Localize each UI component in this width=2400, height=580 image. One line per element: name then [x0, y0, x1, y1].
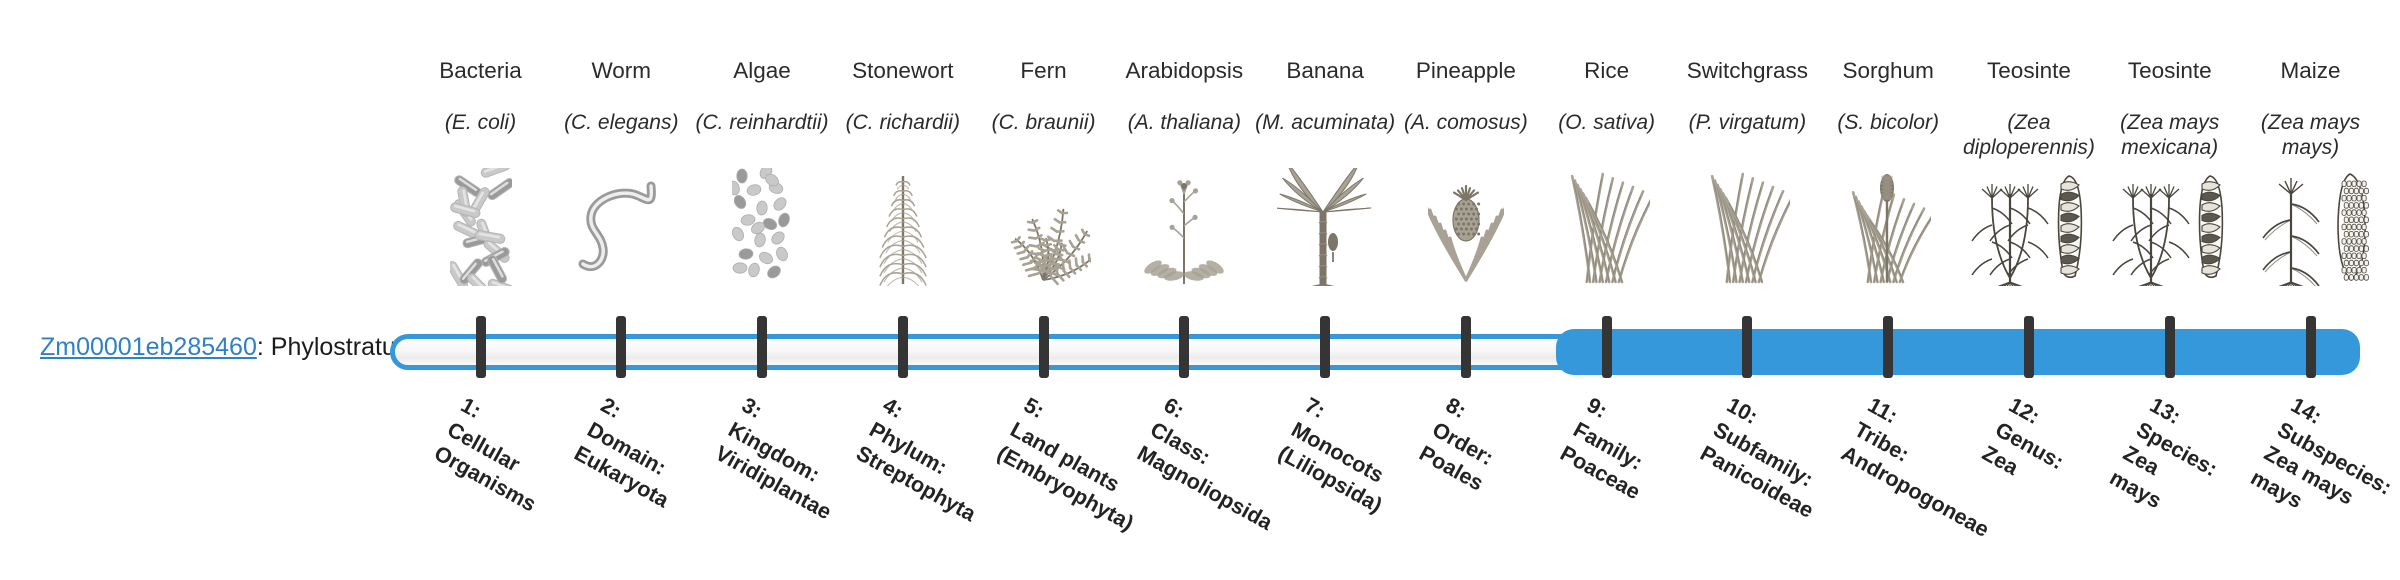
phylostratum-tick [1179, 316, 1189, 378]
species-common-name: Pineapple [1395, 58, 1536, 85]
species-common-name: Sorghum [1818, 58, 1959, 85]
species-latin-name: (Zea mays mexicana) [2099, 110, 2240, 160]
species-latin-name: (C. braunii) [973, 110, 1114, 135]
switchgrass-icon [1677, 168, 1818, 286]
species-common-name: Arabidopsis [1114, 58, 1255, 85]
stonewort-icon [832, 168, 973, 286]
species-latin-name: (C. richardii) [832, 110, 973, 135]
species-latin-name: (C. elegans) [551, 110, 692, 135]
phylostratum-tick [1742, 316, 1752, 378]
species-common-name: Banana [1255, 58, 1396, 85]
phylostratum-column-12[interactable]: Teosinte(Zea diploperennis)12: Genus: Ze… [1958, 0, 2099, 580]
species-latin-name: (E. coli) [410, 110, 551, 135]
banana-palm-icon [1255, 168, 1396, 286]
species-common-name: Stonewort [832, 58, 973, 85]
phylostratum-column-8[interactable]: Pineapple(A. comosus)8: Order: Poales [1395, 0, 1536, 580]
algae-cells-icon [692, 168, 833, 286]
species-latin-name: (P. virgatum) [1677, 110, 1818, 135]
nematode-worm-icon [551, 168, 692, 286]
species-common-name: Algae [692, 58, 833, 85]
phylostratigraphy-figure: Zm00001eb285460: Phylostratum 9 Bacteria… [0, 0, 2400, 580]
teosinte-plant-ear-icon [1958, 168, 2099, 286]
phylostratum-column-5[interactable]: Fern(C. braunii)5: Land plants (Embryoph… [973, 0, 1114, 580]
phylostratum-tick [1320, 316, 1330, 378]
taxonomic-rank-label: 14: Subspecies: Zea mays mays [2245, 392, 2400, 580]
phylostratum-tick [1461, 316, 1471, 378]
species-latin-name: (Zea mays mays) [2240, 110, 2381, 160]
sorghum-icon [1818, 168, 1959, 286]
phylostratum-tick [898, 316, 908, 378]
phylostratum-column-6[interactable]: Arabidopsis(A. thaliana)6: Class: Magnol… [1114, 0, 1255, 580]
species-latin-name: (A. comosus) [1395, 110, 1536, 135]
rice-grass-icon [1536, 168, 1677, 286]
species-latin-name: (Zea diploperennis) [1958, 110, 2099, 160]
pineapple-icon [1395, 168, 1536, 286]
species-latin-name: (O. sativa) [1536, 110, 1677, 135]
species-latin-name: (M. acuminata) [1255, 110, 1396, 135]
species-common-name: Teosinte [2099, 58, 2240, 85]
teosinte-plant-ear-icon [2099, 168, 2240, 286]
phylostratum-column-4[interactable]: Stonewort(C. richardii)4: Phylum: Strept… [832, 0, 973, 580]
gene-id-link[interactable]: Zm00001eb285460 [40, 333, 257, 361]
phylostratum-tick [757, 316, 767, 378]
phylostratum-tick [2165, 316, 2175, 378]
bacteria-rods-icon [410, 168, 551, 286]
phylostratum-column-11[interactable]: Sorghum(S. bicolor)11: Tribe: Andropogon… [1818, 0, 1959, 580]
phylostratum-column-13[interactable]: Teosinte(Zea mays mexicana)13: Species: … [2099, 0, 2240, 580]
maize-plant-cob-icon [2240, 168, 2381, 286]
fern-frond-icon [973, 168, 1114, 286]
phylostratum-tick [1602, 316, 1612, 378]
phylostratum-column-9[interactable]: Rice(O. sativa)9: Family: Poaceae [1536, 0, 1677, 580]
phylostratum-tick [2306, 316, 2316, 378]
species-common-name: Rice [1536, 58, 1677, 85]
species-common-name: Worm [551, 58, 692, 85]
phylostratum-tick [1039, 316, 1049, 378]
species-latin-name: (A. thaliana) [1114, 110, 1255, 135]
species-latin-name: (C. reinhardtii) [692, 110, 833, 135]
phylostratum-column-2[interactable]: Worm(C. elegans)2: Domain: Eukaryota [551, 0, 692, 580]
phylostratum-tick [616, 316, 626, 378]
gene-label-separator: : [257, 333, 271, 361]
species-common-name: Bacteria [410, 58, 551, 85]
phylostratum-tick [2024, 316, 2034, 378]
species-common-name: Maize [2240, 58, 2381, 85]
phylostratum-column-1[interactable]: Bacteria(E. coli)1: Cellular Organisms [410, 0, 551, 580]
phylostratum-column-7[interactable]: Banana(M. acuminata)7: Monocots (Liliops… [1255, 0, 1396, 580]
species-columns: Bacteria(E. coli)1: Cellular OrganismsWo… [480, 0, 2310, 580]
phylostratum-column-3[interactable]: Algae(C. reinhardtii)3: Kingdom: Viridip… [692, 0, 833, 580]
species-common-name: Switchgrass [1677, 58, 1818, 85]
species-common-name: Fern [973, 58, 1114, 85]
arabidopsis-icon [1114, 168, 1255, 286]
phylostratum-tick [1883, 316, 1893, 378]
species-common-name: Teosinte [1958, 58, 2099, 85]
phylostratum-column-10[interactable]: Switchgrass(P. virgatum)10: Subfamily: P… [1677, 0, 1818, 580]
phylostratum-tick [476, 316, 486, 378]
phylostratum-column-14[interactable]: Maize(Zea mays mays)14: Subspecies: Zea … [2240, 0, 2381, 580]
species-latin-name: (S. bicolor) [1818, 110, 1959, 135]
